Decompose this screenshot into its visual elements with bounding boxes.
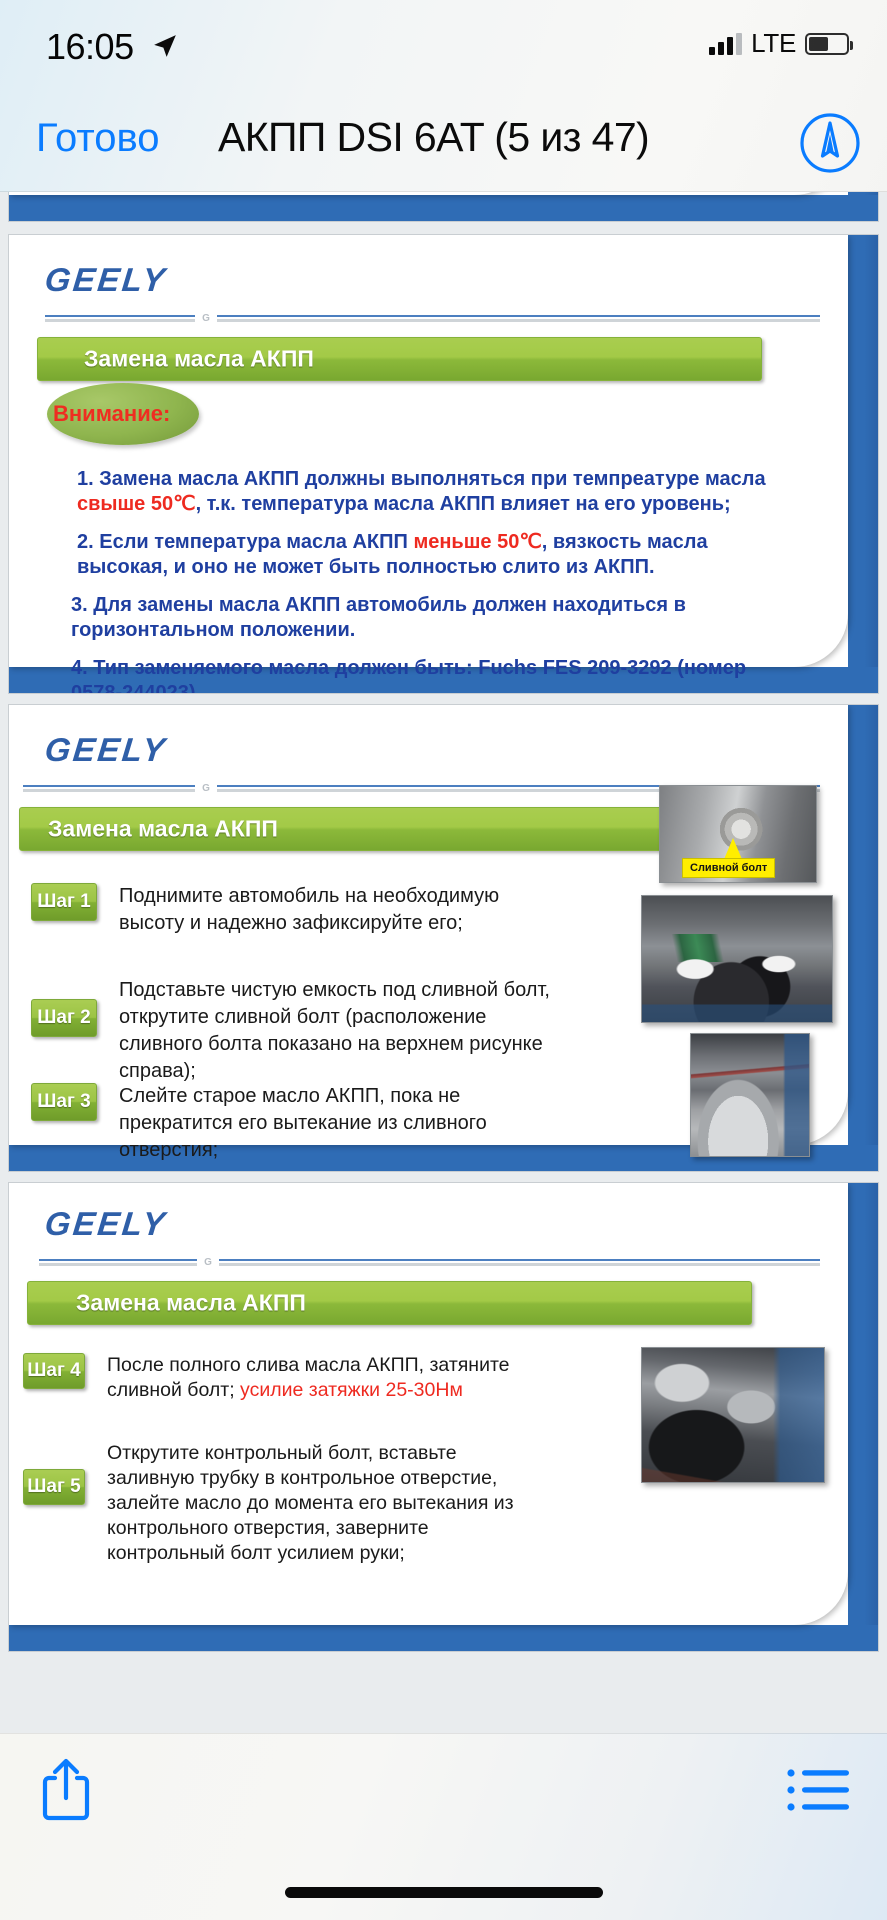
step-badge: Шаг 3 xyxy=(31,1083,97,1121)
template-bottom-band xyxy=(9,1625,878,1651)
slide-banner: Замена масла АКПП xyxy=(27,1281,752,1325)
done-button[interactable]: Готово xyxy=(36,116,160,161)
attention-label: Внимание: xyxy=(53,401,170,427)
list-item: 2. Если температура масла АКПП меньше 50… xyxy=(77,530,798,580)
photo-drain-bolt-closeup: Сливной болт xyxy=(659,785,817,883)
step-row: Шаг 5 Открутите контрольный болт, вставь… xyxy=(23,1441,523,1566)
photo-oil-draining xyxy=(690,1033,810,1157)
rule-mark: G xyxy=(197,1257,219,1269)
document-page-steps-2[interactable]: GEELY G Замена масла АКПП Шаг 4 После по… xyxy=(8,1182,879,1652)
slide-banner-label: Замена масла АКПП xyxy=(76,1290,306,1317)
geely-logo: GEELY xyxy=(43,731,169,769)
location-arrow-icon xyxy=(152,33,178,59)
list-item: 3. Для замены масла АКПП автомобиль долж… xyxy=(71,593,798,643)
network-label: LTE xyxy=(751,28,796,59)
document-page-attention[interactable]: GEELY G Замена масла АКПП Внимание: 1. З… xyxy=(8,234,879,694)
template-right-band xyxy=(848,235,878,693)
status-bar: 16:05 LTE xyxy=(0,0,887,96)
slide-banner: Замена масла АКПП xyxy=(19,807,674,851)
iphone-screen: 16:05 LTE Готово АКПП DSI 6AT (5 из 47) xyxy=(0,0,887,1920)
template-bottom-band xyxy=(9,195,878,221)
status-time: 16:05 xyxy=(46,26,134,68)
step-text: Подставьте чистую емкость под сливной бо… xyxy=(119,977,571,1085)
compass-markup-icon[interactable] xyxy=(799,112,861,174)
photo-tightening-bolt xyxy=(641,1347,825,1483)
slide-banner-label: Замена масла АКПП xyxy=(84,346,314,373)
status-indicators: LTE xyxy=(709,28,849,59)
template-right-band xyxy=(848,1183,878,1651)
header-rule: G xyxy=(39,1259,820,1268)
step-badge: Шаг 1 xyxy=(31,883,97,921)
list-item: 1. Замена масла АКПП должны выполняться … xyxy=(77,467,798,517)
slide-banner-label: Замена масла АКПП xyxy=(48,816,278,843)
share-icon[interactable] xyxy=(38,1756,94,1822)
geely-logo: GEELY xyxy=(43,261,169,299)
slide-banner: Замена масла АКПП xyxy=(37,337,762,381)
step-text: Открутите контрольный болт, вставьте зал… xyxy=(107,1441,523,1566)
nav-bar: Готово АКПП DSI 6AT (5 из 47) xyxy=(0,96,887,192)
step-text: Поднимите автомобиль на необходимую высо… xyxy=(119,883,561,937)
battery-icon xyxy=(805,33,849,55)
home-indicator xyxy=(285,1887,603,1898)
document-page-previous[interactable] xyxy=(8,192,879,222)
step-row: Шаг 3 Слейте старое масло АКПП, пока не … xyxy=(31,1083,551,1164)
step-text: Слейте старое масло АКПП, пока не прекра… xyxy=(119,1083,551,1164)
header-rule: G xyxy=(45,315,820,324)
rule-mark: G xyxy=(195,313,217,325)
bottom-toolbar xyxy=(0,1733,887,1920)
slide-body xyxy=(9,192,848,195)
step-row: Шаг 1 Поднимите автомобиль на необходиму… xyxy=(31,883,561,937)
rule-mark: G xyxy=(195,783,217,795)
document-page-steps-1[interactable]: GEELY G Замена масла АКПП Шаг 1 Поднимит… xyxy=(8,704,879,1172)
step-row: Шаг 2 Подставьте чистую емкость под слив… xyxy=(31,977,571,1085)
document-scroll-area[interactable]: GEELY G Замена масла АКПП Внимание: 1. З… xyxy=(0,192,887,1733)
list-view-icon[interactable] xyxy=(787,1768,849,1812)
photo-callout: Сливной болт xyxy=(682,858,775,878)
attention-list: 1. Замена масла АКПП должны выполняться … xyxy=(77,467,798,694)
step-badge: Шаг 2 xyxy=(31,999,97,1037)
cellular-signal-icon xyxy=(709,33,742,55)
page-title: АКПП DSI 6AT (5 из 47) xyxy=(218,114,649,161)
step-badge: Шаг 5 xyxy=(23,1469,85,1505)
step-row: Шаг 4 После полного слива масла АКПП, за… xyxy=(23,1353,523,1403)
list-item: 4. Тип заменяемого масла должен быть: Fu… xyxy=(71,656,798,694)
step-text: После полного слива масла АКПП, затяните… xyxy=(107,1353,523,1403)
step-badge: Шаг 4 xyxy=(23,1353,85,1389)
photo-loosening-bolt xyxy=(641,895,833,1023)
template-right-band xyxy=(848,705,878,1171)
geely-logo-text: GEELY xyxy=(43,1205,169,1243)
